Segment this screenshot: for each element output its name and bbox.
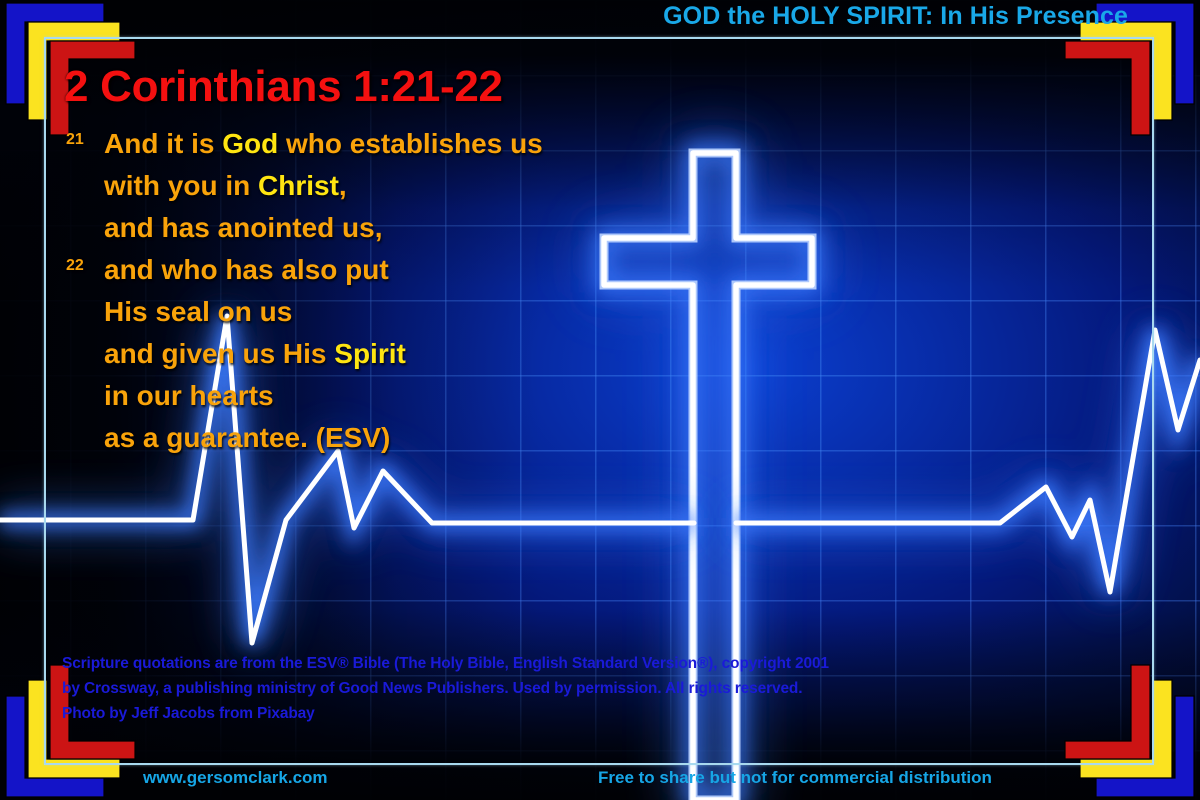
- verse-highlight-word: God: [222, 128, 278, 159]
- verse-number: 21: [66, 129, 84, 151]
- verse-text-segment: His seal on us: [104, 296, 292, 327]
- verse-line: His seal on us: [60, 291, 680, 333]
- scripture-reference: 2 Corinthians 1:21-22: [64, 62, 503, 112]
- attribution-line-1: Scripture quotations are from the ESV® B…: [62, 651, 1092, 676]
- verse-text: with you in Christ,: [104, 165, 347, 207]
- website-link[interactable]: www.gersomclark.com: [143, 768, 328, 788]
- verse-text-segment: and who has also put: [104, 254, 389, 285]
- copyright-attribution: Scripture quotations are from the ESV® B…: [62, 651, 1092, 726]
- verse-number: 22: [66, 255, 84, 277]
- verse-text: and has anointed us,: [104, 207, 382, 249]
- scripture-verse-block: 21And it is God who establishes uswith y…: [60, 123, 680, 459]
- verse-highlight-word: Spirit: [334, 338, 406, 369]
- verse-text-segment: ,: [339, 170, 347, 201]
- verse-highlight-word: Christ: [258, 170, 339, 201]
- verse-line: as a guarantee. (ESV): [60, 417, 680, 459]
- verse-text: And it is God who establishes us: [104, 123, 543, 165]
- verse-text: as a guarantee. (ESV): [104, 417, 390, 459]
- verse-text-segment: with you in: [104, 170, 258, 201]
- page-title: GOD the HOLY SPIRIT: In His Presence: [663, 2, 1128, 31]
- verse-text-segment: as a guarantee. (ESV): [104, 422, 390, 453]
- attribution-line-3: Photo by Jeff Jacobs from Pixabay: [62, 701, 1092, 726]
- verse-text-segment: and given us His: [104, 338, 334, 369]
- verse-text-segment: And it is: [104, 128, 222, 159]
- verse-text: and who has also put: [104, 249, 389, 291]
- verse-line: with you in Christ,: [60, 165, 680, 207]
- verse-text: and given us His Spirit: [104, 333, 406, 375]
- verse-line: and given us His Spirit: [60, 333, 680, 375]
- verse-text: His seal on us: [104, 291, 292, 333]
- verse-text: in our hearts: [104, 375, 274, 417]
- verse-line: 22and who has also put: [60, 249, 680, 291]
- verse-text-segment: who establishes us: [278, 128, 543, 159]
- verse-line: 21And it is God who establishes us: [60, 123, 680, 165]
- verse-line: in our hearts: [60, 375, 680, 417]
- attribution-line-2: by Crossway, a publishing ministry of Go…: [62, 676, 1092, 701]
- scripture-slide: GOD the HOLY SPIRIT: In His Presence 2 C…: [0, 0, 1200, 800]
- verse-text-segment: and has anointed us,: [104, 212, 382, 243]
- verse-line: and has anointed us,: [60, 207, 680, 249]
- distribution-notice: Free to share but not for commercial dis…: [598, 768, 992, 788]
- verse-text-segment: in our hearts: [104, 380, 274, 411]
